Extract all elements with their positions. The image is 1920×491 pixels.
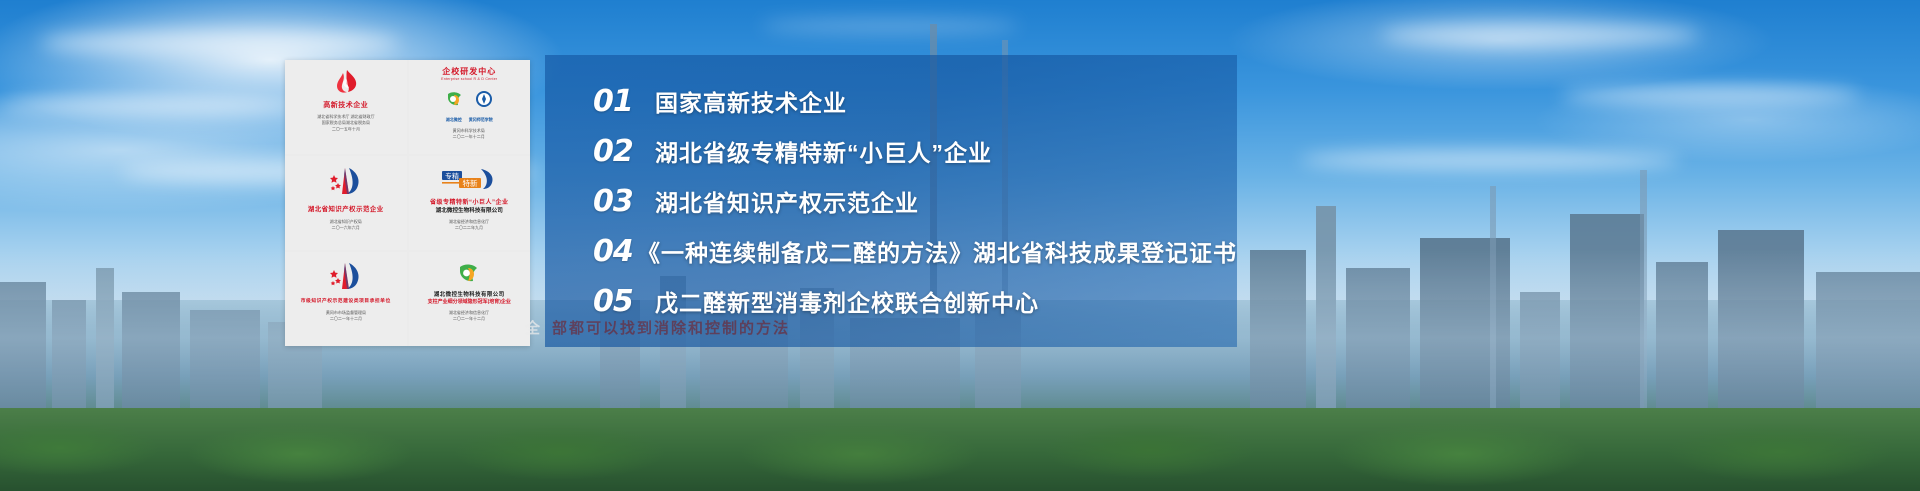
- honors-list-item[interactable]: 04 《一种连续制备戊二醛的方法》湖北省科技成果登记证书: [593, 226, 1237, 276]
- honors-list-item[interactable]: 01 国家高新技术企业: [593, 76, 1237, 126]
- honors-item-number: 03: [593, 184, 655, 219]
- watermark-lead: 全: [525, 317, 542, 338]
- honors-item-number: 02: [593, 134, 655, 169]
- honors-list-item[interactable]: 03 湖北省知识产权示范企业: [593, 176, 1237, 226]
- certificate-title-en: Enterprise school R & D Center: [441, 77, 497, 81]
- certificate-grid: 高新技术企业 湖北省科学技术厅 湖北省财政厅 国家税务总局湖北省税务局 二〇一五…: [285, 60, 530, 346]
- ip-star-p-logo-icon: [329, 258, 363, 294]
- certificate-issuer: 湖北省经济和信息化厅 二〇二二年九月: [449, 219, 489, 231]
- honors-item-text: 湖北省知识产权示范企业: [655, 184, 919, 218]
- certificate-title: 支柱产业细分领域隐形冠军(培育)企业: [428, 299, 511, 306]
- honors-item-text: 湖北省级专精特新“小巨人”企业: [655, 134, 992, 168]
- svg-text:特新: 特新: [463, 178, 478, 188]
- certificate-card[interactable]: 企校研发中心 Enterprise school R & D Center 湖北…: [409, 60, 531, 154]
- watermark-text: 全 部都可以找到消除和控制的方法: [525, 316, 1225, 338]
- honors-list-item[interactable]: 02 湖北省级专精特新“小巨人”企业: [593, 126, 1237, 176]
- honors-item-text: 国家高新技术企业: [655, 84, 847, 118]
- certificate-badge-left: 湖北微控: [446, 117, 462, 123]
- certificate-issuer: 湖北省科学技术厅 湖北省财政厅 国家税务总局湖北省税务局 二〇一五年十月: [317, 114, 374, 132]
- honors-item-text: 戊二醛新型消毒剂企校联合创新中心: [655, 284, 1039, 318]
- certificate-title: 企校研发中心: [442, 67, 496, 76]
- hero-banner: 高新技术企业 湖北省科学技术厅 湖北省财政厅 国家税务总局湖北省税务局 二〇一五…: [0, 0, 1920, 491]
- certificate-issuer: 黄冈市市场监督管理局 二〇二一年十二月: [326, 310, 366, 322]
- enterprise-school-rd-logo-icon: [445, 82, 493, 116]
- certificate-card[interactable]: 市级知识产权示范建设类项目承担单位 黄冈市市场监督管理局 二〇二一年十二月: [285, 252, 407, 346]
- weikong-green-logo-icon: [457, 258, 481, 288]
- foreground-greenery: [0, 408, 1920, 491]
- honors-item-number: 04: [593, 234, 637, 269]
- flame-logo-icon: [335, 66, 357, 100]
- honors-item-text: 《一种连续制备戊二醛的方法》湖北省科技成果登记证书: [637, 234, 1237, 268]
- certificate-title: 市级知识产权示范建设类项目承担单位: [301, 299, 391, 305]
- certificate-company: 湖北微控生物科技有限公司: [436, 208, 503, 215]
- certificate-card[interactable]: 湖北省知识产权示范企业 湖北省知识产权局 二〇一六年六月: [285, 156, 407, 250]
- honors-list-panel: 01 国家高新技术企业 02 湖北省级专精特新“小巨人”企业 03 湖北省知识产…: [545, 55, 1237, 347]
- certificate-company: 湖北微控生物科技有限公司: [434, 292, 505, 298]
- certificate-card[interactable]: 专精 特新 省级专精特新“小巨人”企业 湖北微控生物科技有限公司 湖北省经济和信…: [409, 156, 531, 250]
- certificate-card[interactable]: 高新技术企业 湖北省科学技术厅 湖北省财政厅 国家税务总局湖北省税务局 二〇一五…: [285, 60, 407, 154]
- svg-text:专精: 专精: [445, 172, 459, 181]
- ip-star-p-logo-icon: [329, 162, 363, 200]
- certificate-title: 高新技术企业: [323, 102, 368, 110]
- certificate-title: 省级专精特新“小巨人”企业: [430, 200, 509, 207]
- certificate-issuer: 湖北省知识产权局 二〇一六年六月: [330, 220, 362, 232]
- specialized-new-logo-icon: 专精 特新: [441, 162, 497, 196]
- certificate-badge-right: 黄冈师范学院: [469, 117, 493, 123]
- watermark-body: 部都可以找到消除和控制的方法: [552, 317, 790, 338]
- honors-item-number: 05: [593, 284, 655, 319]
- certificate-issuer: 黄冈市科学技术局 二〇二一年十二月: [453, 128, 485, 140]
- certificate-card[interactable]: 湖北微控生物科技有限公司 支柱产业细分领域隐形冠军(培育)企业 湖北省经济和信息…: [409, 252, 531, 346]
- certificate-issuer: 湖北省经济和信息化厅 二〇二一年十二月: [449, 310, 489, 322]
- honors-item-number: 01: [593, 84, 655, 119]
- certificate-title: 湖北省知识产权示范企业: [308, 206, 384, 213]
